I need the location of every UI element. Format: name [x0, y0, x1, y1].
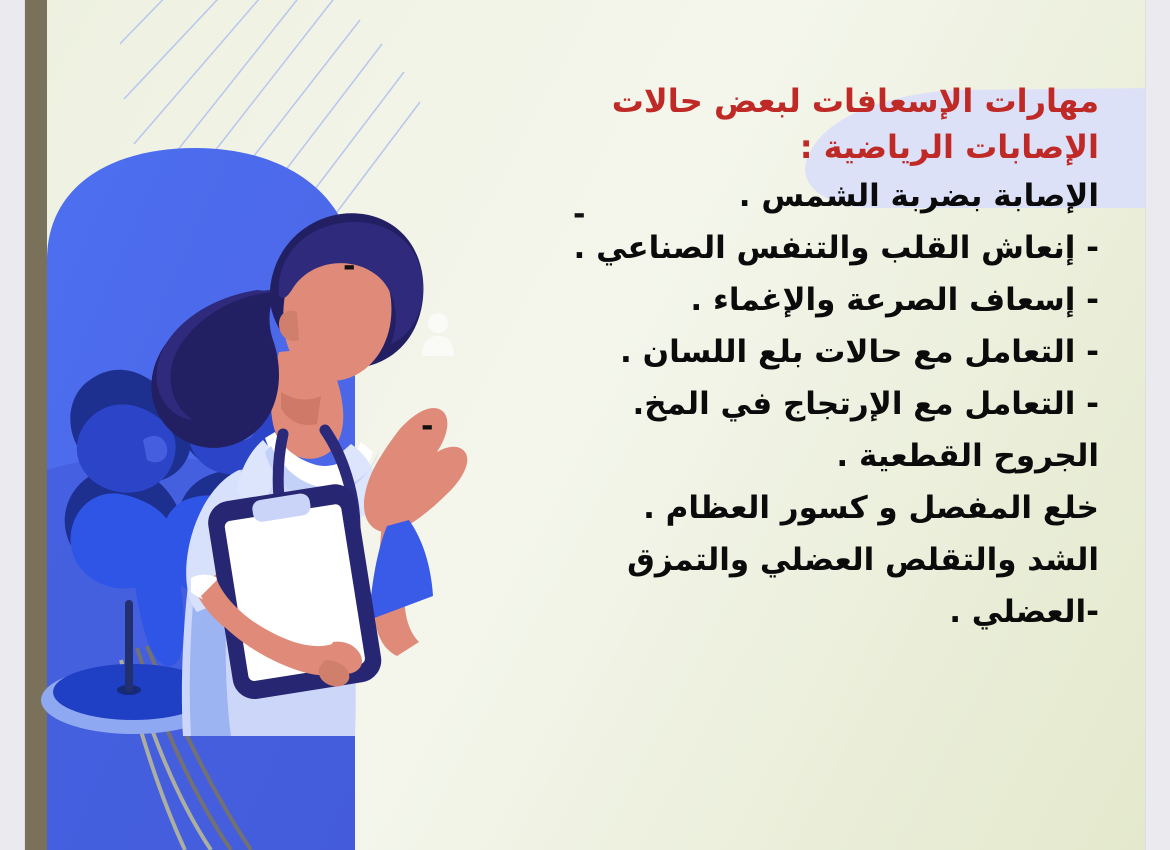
left-accent-band: [25, 0, 47, 850]
body-line-3: - إسعاف الصرعة والإغماء .: [399, 274, 1099, 326]
screenshot-canvas: مهارات الإسعافات لبعض حالات الإصابات الر…: [0, 0, 1170, 850]
body-line-6: الجروح القطعية .: [399, 430, 1099, 482]
presentation-slide: مهارات الإسعافات لبعض حالات الإصابات الر…: [25, 0, 1145, 850]
body-line-4: - التعامل مع حالات بلع اللسان .: [399, 326, 1099, 378]
slide-text-block: مهارات الإسعافات لبعض حالات الإصابات الر…: [399, 78, 1099, 638]
body-line-9: -العضلي .: [399, 586, 1099, 638]
body-line-2: - إنعاش القلب والتنفس الصناعي .: [399, 222, 1099, 274]
body-line-7: خلع المفصل و كسور العظام .: [399, 482, 1099, 534]
title-line-1: مهارات الإسعافات لبعض حالات: [399, 78, 1099, 124]
title-line-2: الإصابات الرياضية :: [399, 124, 1099, 170]
body-line-1: الإصابة بضربة الشمس .: [399, 170, 1099, 222]
stray-dash-2: -: [343, 252, 355, 282]
body-line-8: الشد والتقلص العضلي والتمزق: [399, 534, 1099, 586]
body-line-5: - التعامل مع الإرتجاج في المخ.: [399, 378, 1099, 430]
